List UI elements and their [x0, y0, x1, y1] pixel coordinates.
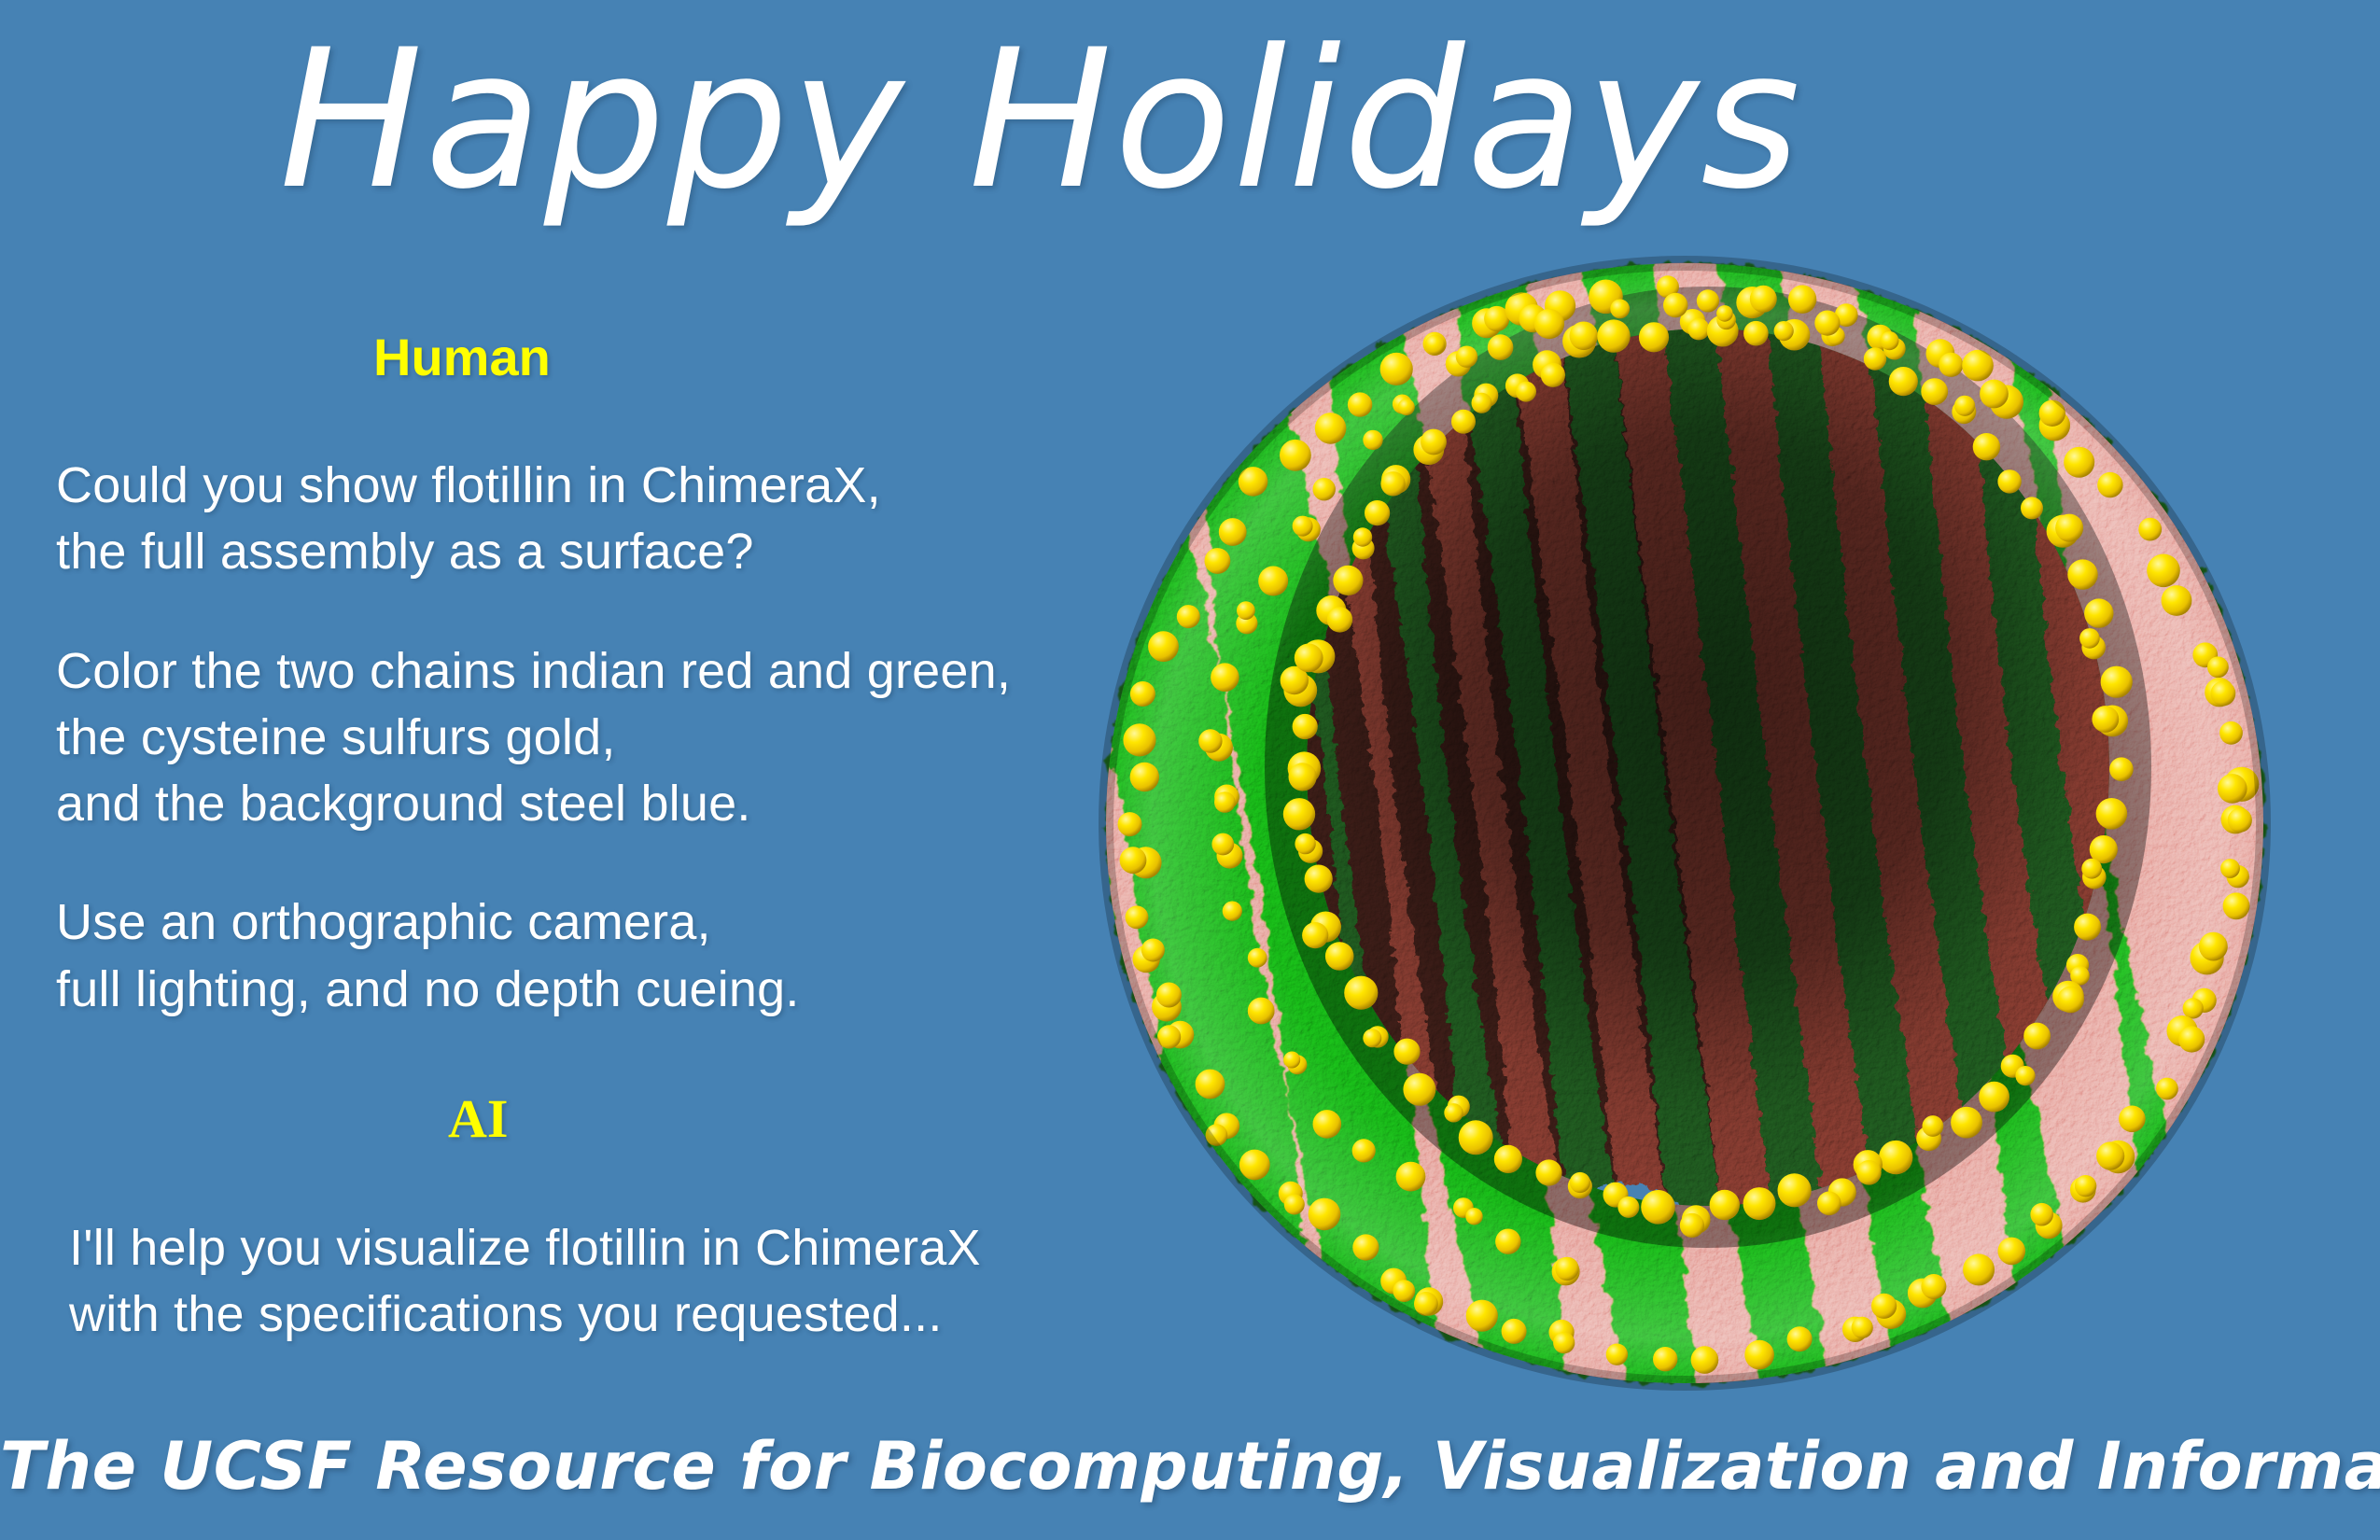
cysteine-sulfur-sphere — [1817, 1192, 1841, 1216]
cysteine-sulfur-sphere — [1333, 566, 1363, 595]
cysteine-sulfur-sphere — [1697, 289, 1719, 312]
cysteine-sulfur-sphere — [1205, 548, 1231, 574]
cysteine-sulfur-sphere — [2207, 656, 2229, 678]
cysteine-sulfur-sphere — [2178, 1026, 2205, 1052]
cysteine-sulfur-sphere — [1939, 353, 1963, 377]
cysteine-sulfur-sphere — [1687, 318, 1709, 340]
cysteine-sulfur-sphere — [1597, 319, 1630, 352]
cysteine-sulfur-sphere — [1814, 311, 1840, 336]
cysteine-sulfur-sphere — [2119, 1106, 2146, 1133]
cysteine-sulfur-sphere — [1156, 983, 1182, 1008]
cysteine-sulfur-sphere — [1653, 1347, 1677, 1371]
cysteine-sulfur-sphere — [2075, 1175, 2096, 1197]
cysteine-sulfur-sphere — [1979, 1082, 2009, 1113]
cysteine-sulfur-sphere — [1283, 798, 1315, 830]
cysteine-sulfur-sphere — [2183, 998, 2204, 1018]
cysteine-sulfur-sphere — [2021, 497, 2043, 519]
cysteine-sulfur-sphere — [1365, 500, 1390, 525]
spacer — [56, 1023, 1120, 1092]
cysteine-sulfur-sphere — [2138, 518, 2162, 541]
cysteine-sulfur-sphere — [1141, 939, 1165, 962]
spacer — [56, 586, 1120, 638]
cysteine-sulfur-sphere — [1130, 681, 1155, 707]
cysteine-sulfur-sphere — [2219, 721, 2243, 745]
cysteine-sulfur-sphere — [1606, 1344, 1628, 1365]
page-title: Happy Holidays — [0, 21, 2081, 221]
cysteine-sulfur-sphere — [1325, 942, 1354, 971]
cysteine-sulfur-sphere — [1398, 399, 1415, 415]
cysteine-sulfur-sphere — [1425, 335, 1445, 355]
cysteine-sulfur-sphere — [1778, 1173, 1812, 1207]
cysteine-sulfur-sphere — [2064, 447, 2094, 478]
cysteine-sulfur-sphere — [1879, 1141, 1912, 1174]
cysteine-sulfur-sphere — [1327, 607, 1352, 632]
cysteine-sulfur-sphere — [1465, 1208, 1482, 1225]
cysteine-sulfur-sphere — [2228, 808, 2252, 833]
cysteine-sulfur-sphere — [1126, 905, 1149, 929]
cysteine-sulfur-sphere — [1516, 382, 1536, 402]
cysteine-sulfur-sphere — [1344, 976, 1378, 1010]
cysteine-sulfur-sphere — [1864, 347, 1886, 370]
cysteine-sulfur-sphere — [1456, 346, 1477, 368]
cysteine-sulfur-sphere — [1466, 1300, 1498, 1332]
cysteine-sulfur-sphere — [2023, 1023, 2051, 1050]
cysteine-sulfur-sphere — [1963, 1253, 1995, 1285]
cysteine-sulfur-sphere — [1237, 601, 1255, 620]
cysteine-sulfur-sphere — [2223, 892, 2250, 919]
cysteine-sulfur-sphere — [1880, 331, 1898, 350]
cysteine-sulfur-sphere — [1889, 367, 1918, 396]
cysteine-sulfur-sphere — [1923, 1115, 1944, 1137]
cysteine-sulfur-sphere — [1495, 1229, 1520, 1254]
cysteine-sulfur-sphere — [1352, 1139, 1376, 1162]
cysteine-sulfur-sphere — [1951, 1107, 1982, 1139]
cysteine-sulfur-sphere — [1363, 1029, 1381, 1047]
cysteine-sulfur-sphere — [1396, 1162, 1426, 1192]
organization-footer: The UCSF Resource for Biocomputing, Visu… — [0, 1428, 2380, 1505]
cysteine-sulfur-sphere — [1691, 1346, 1719, 1374]
cysteine-sulfur-sphere — [1610, 300, 1630, 319]
cysteine-sulfur-sphere — [1223, 902, 1242, 921]
cysteine-sulfur-sphere — [1663, 293, 1687, 317]
cysteine-sulfur-sphere — [2096, 1141, 2124, 1169]
cysteine-sulfur-sphere — [1494, 1145, 1522, 1173]
cysteine-sulfur-sphere — [1353, 527, 1372, 546]
cysteine-sulfur-sphere — [1302, 922, 1328, 948]
cysteine-sulfur-sphere — [1305, 865, 1333, 893]
cysteine-sulfur-sphere — [1421, 429, 1447, 455]
cysteine-sulfur-sphere — [2057, 987, 2084, 1014]
cysteine-sulfur-sphere — [1617, 1197, 1639, 1218]
cysteine-sulfur-sphere — [1248, 998, 1275, 1025]
cysteine-sulfur-sphere — [1639, 322, 1669, 352]
cysteine-sulfur-sphere — [1177, 605, 1200, 628]
cysteine-sulfur-sphere — [2147, 554, 2180, 588]
speaker-label-human: Human — [373, 331, 1120, 384]
cysteine-sulfur-sphere — [1472, 393, 1492, 413]
cysteine-sulfur-sphere — [2096, 798, 2128, 830]
cysteine-sulfur-sphere — [1280, 440, 1311, 471]
spacer — [56, 837, 1120, 889]
cysteine-sulfur-sphere — [1451, 410, 1476, 434]
cysteine-sulfur-sphere — [1380, 353, 1413, 385]
cysteine-sulfur-sphere — [1118, 812, 1142, 836]
holiday-card: Happy Holidays — [0, 0, 2380, 1540]
cysteine-sulfur-sphere — [1788, 286, 1816, 314]
cysteine-sulfur-sphere — [1710, 1190, 1740, 1220]
cysteine-sulfur-sphere — [1750, 286, 1777, 313]
cysteine-sulfur-sphere — [1856, 1160, 1882, 1185]
cysteine-sulfur-sphere — [1998, 1238, 2026, 1266]
cysteine-sulfur-sphere — [2067, 559, 2097, 589]
cysteine-sulfur-sphere — [1535, 1159, 1561, 1185]
cysteine-sulfur-sphere — [2199, 932, 2228, 961]
cysteine-sulfur-sphere — [2101, 666, 2133, 698]
cysteine-sulfur-sphere — [1148, 631, 1179, 662]
cysteine-sulfur-sphere — [1459, 1120, 1493, 1155]
cysteine-sulfur-sphere — [1130, 763, 1159, 791]
cysteine-sulfur-sphere — [1744, 1340, 1774, 1370]
cysteine-sulfur-sphere — [1313, 1110, 1342, 1139]
cysteine-sulfur-sphere — [2220, 859, 2240, 878]
cysteine-sulfur-sphere — [1123, 723, 1155, 756]
cysteine-sulfur-sphere — [1309, 1198, 1341, 1231]
cysteine-sulfur-sphere — [1211, 663, 1239, 692]
cysteine-sulfur-sphere — [1295, 644, 1323, 673]
cysteine-sulfur-sphere — [1716, 305, 1733, 322]
cysteine-sulfur-sphere — [2084, 598, 2113, 627]
cysteine-sulfur-sphere — [1743, 1187, 1776, 1220]
cysteine-sulfur-sphere — [1921, 1274, 1946, 1299]
cysteine-sulfur-sphere — [2079, 628, 2100, 649]
cysteine-sulfur-sphere — [2081, 859, 2102, 879]
cysteine-sulfur-sphere — [1196, 1070, 1225, 1099]
cysteine-sulfur-sphere — [1680, 1213, 1704, 1238]
cysteine-sulfur-sphere — [1283, 1052, 1300, 1069]
spacer — [56, 1146, 1120, 1215]
cysteine-sulfur-sphere — [1871, 1294, 1897, 1319]
human-message-2: Color the two chains indian red and gree… — [56, 638, 1120, 838]
cysteine-sulfur-sphere — [2162, 585, 2192, 616]
cysteine-sulfur-sphere — [1921, 378, 1948, 405]
cysteine-sulfur-sphere — [1352, 1234, 1379, 1260]
human-message-3: Use an orthographic camera, full lightin… — [56, 889, 1120, 1023]
cysteine-sulfur-sphere — [2109, 757, 2134, 781]
cysteine-sulfur-sphere — [1363, 430, 1382, 450]
cysteine-sulfur-sphere — [1258, 567, 1288, 596]
cysteine-sulfur-sphere — [1248, 948, 1267, 968]
cysteine-sulfur-sphere — [2156, 1078, 2178, 1100]
cysteine-sulfur-sphere — [2015, 1066, 2035, 1085]
cysteine-sulfur-sphere — [1198, 729, 1222, 752]
cysteine-sulfur-sphere — [1293, 714, 1318, 739]
cysteine-sulfur-sphere — [2074, 914, 2101, 941]
cysteine-sulfur-sphere — [1570, 1172, 1590, 1193]
cysteine-sulfur-sphere — [1787, 1326, 1813, 1351]
cysteine-sulfur-sphere — [1502, 1319, 1527, 1344]
cysteine-sulfur-sphere — [1219, 518, 1247, 546]
cysteine-sulfur-sphere — [2097, 472, 2122, 497]
cysteine-sulfur-sphere — [1214, 791, 1236, 813]
ai-message-1: I'll help you visualize flotillin in Chi… — [56, 1215, 1120, 1349]
human-message-1: Could you show flotillin in ChimeraX, th… — [56, 453, 1120, 586]
cysteine-sulfur-sphere — [1380, 471, 1405, 496]
cysteine-sulfur-sphere — [1293, 516, 1313, 537]
cysteine-sulfur-sphere — [1313, 478, 1336, 500]
cysteine-sulfur-sphere — [1488, 334, 1514, 360]
cysteine-sulfur-sphere — [1553, 1332, 1575, 1353]
cysteine-sulfur-sphere — [1393, 1280, 1415, 1302]
cysteine-sulfur-sphere — [1852, 1317, 1873, 1338]
cysteine-sulfur-sphere — [1284, 1195, 1305, 1215]
cysteine-sulfur-sphere — [2211, 681, 2236, 707]
cysteine-sulfur-sphere — [1315, 413, 1347, 444]
spacer — [56, 384, 1120, 453]
cysteine-sulfur-sphere — [1534, 309, 1564, 339]
cysteine-sulfur-sphere — [1403, 1073, 1435, 1106]
cysteine-sulfur-sphere — [1348, 392, 1372, 416]
cysteine-sulfur-sphere — [1973, 433, 2000, 460]
cysteine-sulfur-sphere — [1570, 322, 1599, 351]
cysteine-sulfur-sphere — [1555, 1257, 1578, 1281]
cysteine-sulfur-sphere — [1541, 363, 1565, 387]
speaker-label-ai: AI — [448, 1092, 1120, 1146]
cysteine-sulfur-sphere — [2030, 1203, 2053, 1226]
cysteine-sulfur-sphere — [1743, 321, 1769, 346]
cysteine-sulfur-sphere — [2218, 774, 2247, 804]
cysteine-sulfur-sphere — [1954, 396, 1975, 416]
cysteine-sulfur-sphere — [1641, 1190, 1675, 1225]
cysteine-sulfur-sphere — [1444, 1103, 1463, 1122]
cysteine-sulfur-sphere — [1211, 833, 1234, 856]
cysteine-sulfur-sphere — [1774, 321, 1794, 341]
cysteine-sulfur-sphere — [2092, 706, 2119, 733]
cysteine-sulfur-sphere — [1980, 380, 2009, 409]
cysteine-sulfur-sphere — [1295, 833, 1315, 854]
flotillin-molecular-surface-render — [1064, 245, 2333, 1393]
cysteine-sulfur-sphere — [2055, 514, 2083, 542]
cysteine-sulfur-sphere — [1393, 1039, 1420, 1065]
cysteine-sulfur-sphere — [1997, 469, 2021, 493]
cysteine-sulfur-sphere — [1120, 847, 1147, 874]
cysteine-sulfur-sphere — [1289, 763, 1317, 791]
conversation-panel: Human Could you show flotillin in Chimer… — [56, 331, 1120, 1348]
